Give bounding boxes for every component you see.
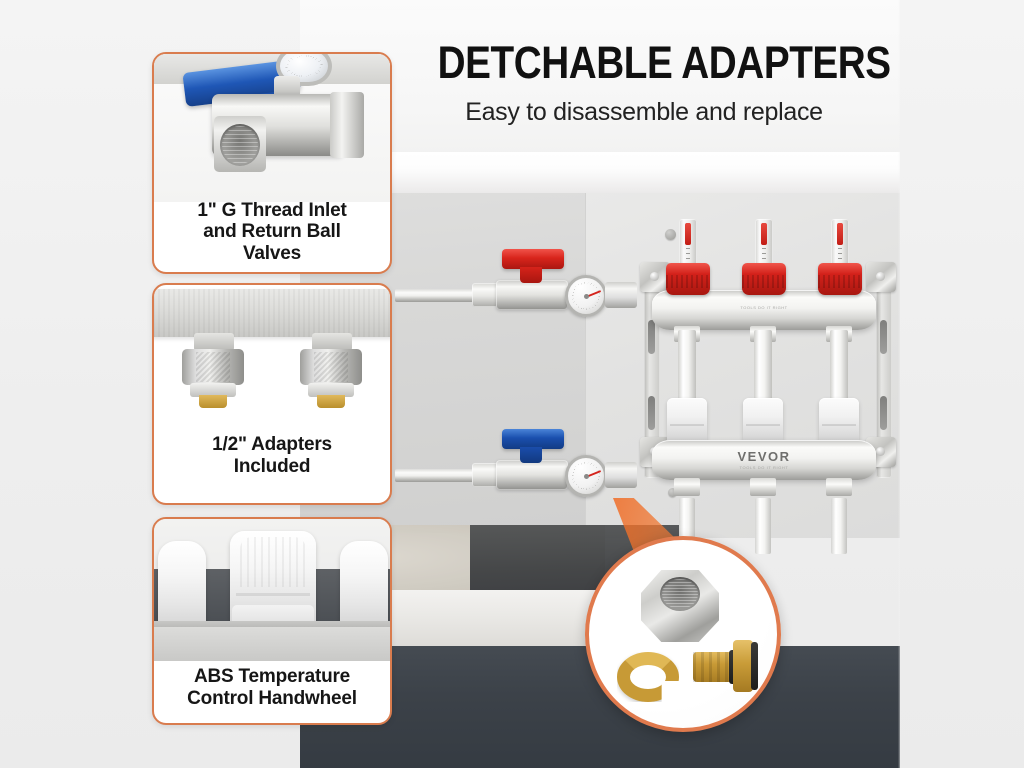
callout-1-line-2: and Return Ball (160, 221, 384, 242)
manifold-bar-section (154, 289, 390, 337)
union-nut (472, 463, 498, 487)
product-feature-image: TOOLS DO IT RIGHT (0, 0, 1024, 768)
manifold-etching: TOOLS DO IT RIGHT (652, 305, 876, 310)
adapter-hex-nut (300, 349, 362, 385)
chrome-hex-union-nut (641, 570, 719, 642)
supply-temperature-gauge (565, 275, 607, 317)
callout-1-line-1: 1" G Thread Inlet (160, 200, 384, 221)
callout-2-line-2: Included (160, 456, 384, 477)
supply-ball-valve-body (496, 280, 568, 310)
flow-meter-float (685, 223, 691, 245)
callout-adapters: 1/2" Adapters Included (152, 283, 392, 505)
brass-split-ring (617, 652, 679, 702)
union-nut (472, 283, 498, 307)
abs-handwheel-side-left (158, 541, 206, 629)
adapter-hex-nut (182, 349, 244, 385)
callout-3-label: ABS Temperature Control Handwheel (154, 666, 390, 709)
flow-meter-3[interactable] (818, 219, 862, 295)
bracket-slot (648, 320, 655, 354)
handwheel-grip-flutes (240, 537, 306, 587)
photo-edge-fade (898, 0, 900, 768)
abs-handwheel-center (230, 531, 316, 627)
callout-adapters-photo (154, 285, 390, 437)
abs-handwheel-1[interactable] (667, 398, 707, 444)
clamp-bolt-icon (650, 272, 659, 281)
bracket-slot (648, 396, 655, 430)
supply-pipe (395, 289, 477, 302)
supply-ball-valve-handle[interactable] (502, 249, 564, 269)
outlet-nut (750, 478, 776, 496)
callout-2-label: 1/2" Adapters Included (154, 434, 390, 477)
valve-outlet-fitting (605, 282, 637, 308)
flow-meter-adjust-cap[interactable] (818, 263, 862, 295)
callout-ball-valve-photo (154, 54, 390, 202)
valve-outlet-fitting (605, 462, 637, 488)
outlet-tube-2 (755, 498, 771, 554)
page-title: DETCHABLE ADAPTERS (438, 40, 851, 85)
return-ball-valve-body (496, 460, 568, 490)
adapter-brass-tip (199, 395, 227, 408)
clamp-bolt-icon (876, 447, 885, 456)
outlet-nut (674, 478, 700, 496)
flow-meter-float (837, 223, 843, 245)
return-pipe (395, 469, 477, 482)
callout-handwheel-photo (154, 519, 390, 661)
flow-meter-1[interactable] (666, 219, 710, 295)
adapter-brass-tip (317, 395, 345, 408)
o-ring (751, 642, 758, 690)
outlet-tube-3 (831, 498, 847, 554)
bracket-slot (880, 396, 887, 430)
abs-handwheel-side-right (340, 541, 388, 629)
return-manifold-bar: VEVOR TOOLS DO IT RIGHT (652, 440, 876, 480)
callout-1-label: 1" G Thread Inlet and Return Ball Valves (154, 200, 390, 264)
callout-3-line-2: Control Handwheel (160, 688, 384, 709)
bracket-slot (880, 320, 887, 354)
callout-handwheel: ABS Temperature Control Handwheel (152, 517, 392, 725)
abs-handwheel-3[interactable] (819, 398, 859, 444)
abs-handwheel-2[interactable] (743, 398, 783, 444)
brass-barbed-insert (693, 638, 765, 694)
nut-thread-lines (662, 579, 698, 609)
callout-3-line-1: ABS Temperature (160, 666, 384, 687)
flow-meter-adjust-cap[interactable] (666, 263, 710, 295)
valve-hex-end (330, 92, 364, 158)
vevor-brand-tagline: TOOLS DO IT RIGHT (652, 465, 876, 470)
supply-manifold-bar: TOOLS DO IT RIGHT (652, 290, 876, 330)
callout-1-line-3: Valves (160, 243, 384, 264)
g-thread-inlet (214, 116, 266, 172)
detached-adapter-inset (585, 536, 781, 732)
return-ball-valve-handle[interactable] (502, 429, 564, 449)
outlet-nut (826, 478, 852, 496)
barb-flange (733, 640, 753, 692)
flow-meter-2[interactable] (742, 219, 786, 295)
return-temperature-gauge (565, 455, 607, 497)
pipe-clamp (866, 262, 896, 292)
light-floor-band (154, 627, 390, 661)
flow-meter-adjust-cap[interactable] (742, 263, 786, 295)
flow-meter-sight-tube (755, 219, 773, 269)
flow-meter-sight-tube (831, 219, 849, 269)
clamp-bolt-icon (876, 272, 885, 281)
page-subtitle: Easy to disassemble and replace (404, 100, 884, 125)
vevor-brand-logo: VEVOR (652, 449, 876, 464)
callout-2-line-1: 1/2" Adapters (160, 434, 384, 455)
gauge-hub (584, 474, 589, 479)
flow-meter-sight-tube (679, 219, 697, 269)
callout-ball-valves: 1" G Thread Inlet and Return Ball Valves (152, 52, 392, 274)
gauge-hub (584, 294, 589, 299)
flow-meter-float (761, 223, 767, 245)
